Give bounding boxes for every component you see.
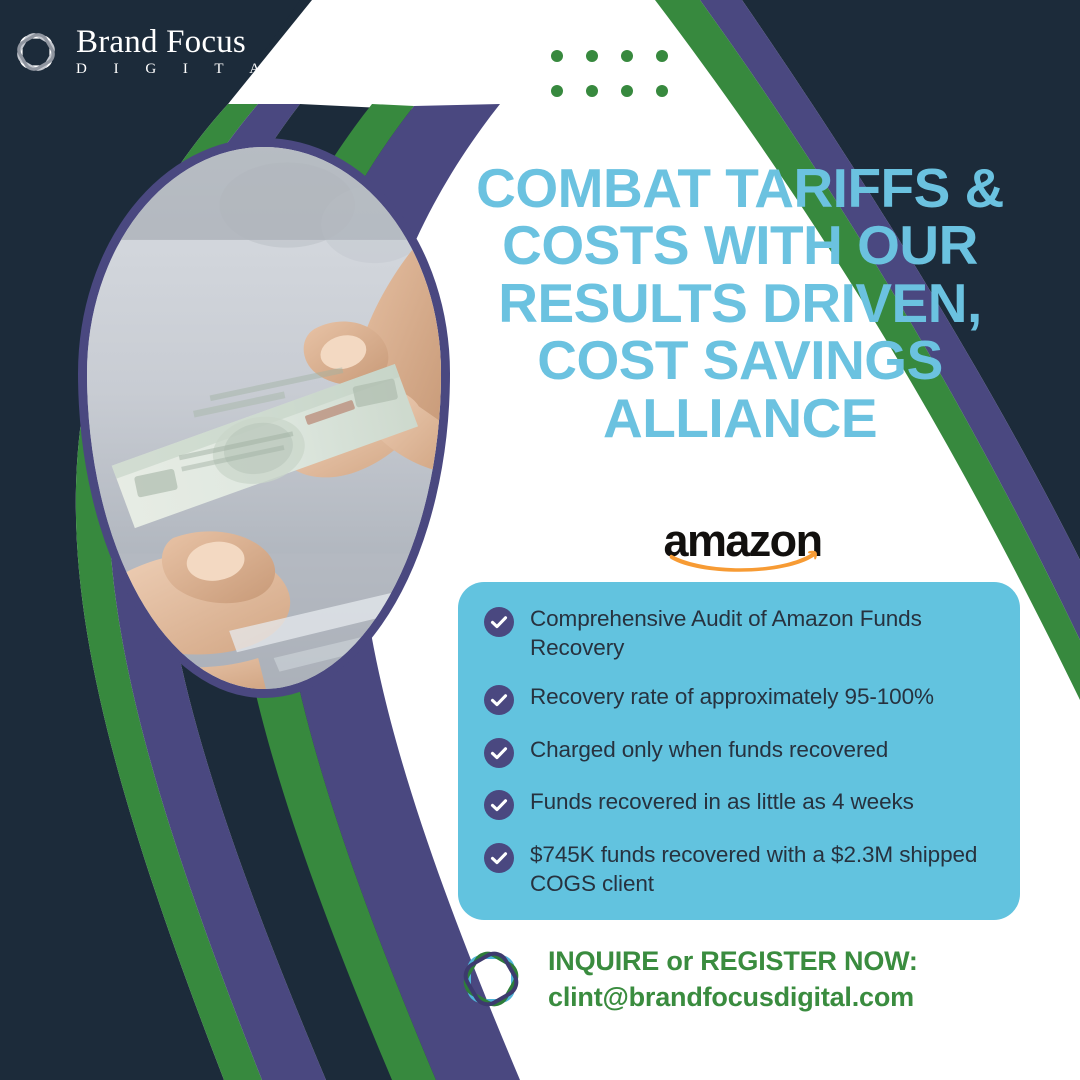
- decorative-dot-grid: [551, 50, 668, 97]
- brand-name: Brand Focus: [76, 25, 307, 60]
- brand-focus-rings-icon: [8, 24, 64, 80]
- benefit-text: Funds recovered in as little as 4 weeks: [530, 787, 914, 816]
- brand-header[interactable]: Brand Focus D I G I T A L: [0, 0, 300, 104]
- benefit-text: $745K funds recovered with a $2.3M shipp…: [530, 840, 990, 899]
- page-title: COMBAT TARIFFS & COSTS WITH OUR RESULTS …: [462, 160, 1018, 447]
- money-exchange-photo: [87, 147, 441, 689]
- check-circle-icon: [484, 790, 514, 820]
- dot: [656, 50, 668, 62]
- check-circle-icon: [484, 685, 514, 715]
- dot: [586, 50, 598, 62]
- check-circle-icon: [484, 843, 514, 873]
- benefit-text: Recovery rate of approximately 95-100%: [530, 682, 934, 711]
- amazon-smile-arrow-icon: [668, 550, 818, 572]
- brand-subtitle: D I G I T A L: [76, 59, 307, 79]
- list-item: Charged only when funds recovered: [484, 735, 990, 768]
- list-item: $745K funds recovered with a $2.3M shipp…: [484, 840, 990, 899]
- cta-text-lines: INQUIRE or REGISTER NOW: clint@brandfocu…: [548, 944, 918, 1015]
- check-circle-icon: [484, 738, 514, 768]
- brand-wordmark-group: Brand Focus D I G I T A L: [76, 25, 307, 80]
- check-circle-icon: [484, 607, 514, 637]
- amazon-logo: amazon: [655, 518, 830, 570]
- dot: [621, 50, 633, 62]
- brand-focus-rings-color-icon: [452, 940, 530, 1018]
- dot: [586, 85, 598, 97]
- cta-contact-block[interactable]: INQUIRE or REGISTER NOW: clint@brandfocu…: [452, 940, 918, 1018]
- list-item: Funds recovered in as little as 4 weeks: [484, 787, 990, 820]
- dot: [656, 85, 668, 97]
- benefit-text: Comprehensive Audit of Amazon Funds Reco…: [530, 604, 990, 663]
- dot: [551, 85, 563, 97]
- list-item: Comprehensive Audit of Amazon Funds Reco…: [484, 604, 990, 663]
- dot: [621, 85, 633, 97]
- benefit-text: Charged only when funds recovered: [530, 735, 888, 764]
- cta-email[interactable]: clint@brandfocusdigital.com: [548, 980, 918, 1014]
- dot: [551, 50, 563, 62]
- cta-headline: INQUIRE or REGISTER NOW:: [548, 944, 918, 978]
- poster-canvas: Brand Focus D I G I T A L: [0, 0, 1080, 1080]
- list-item: Recovery rate of approximately 95-100%: [484, 682, 990, 715]
- benefits-card: Comprehensive Audit of Amazon Funds Reco…: [458, 582, 1020, 920]
